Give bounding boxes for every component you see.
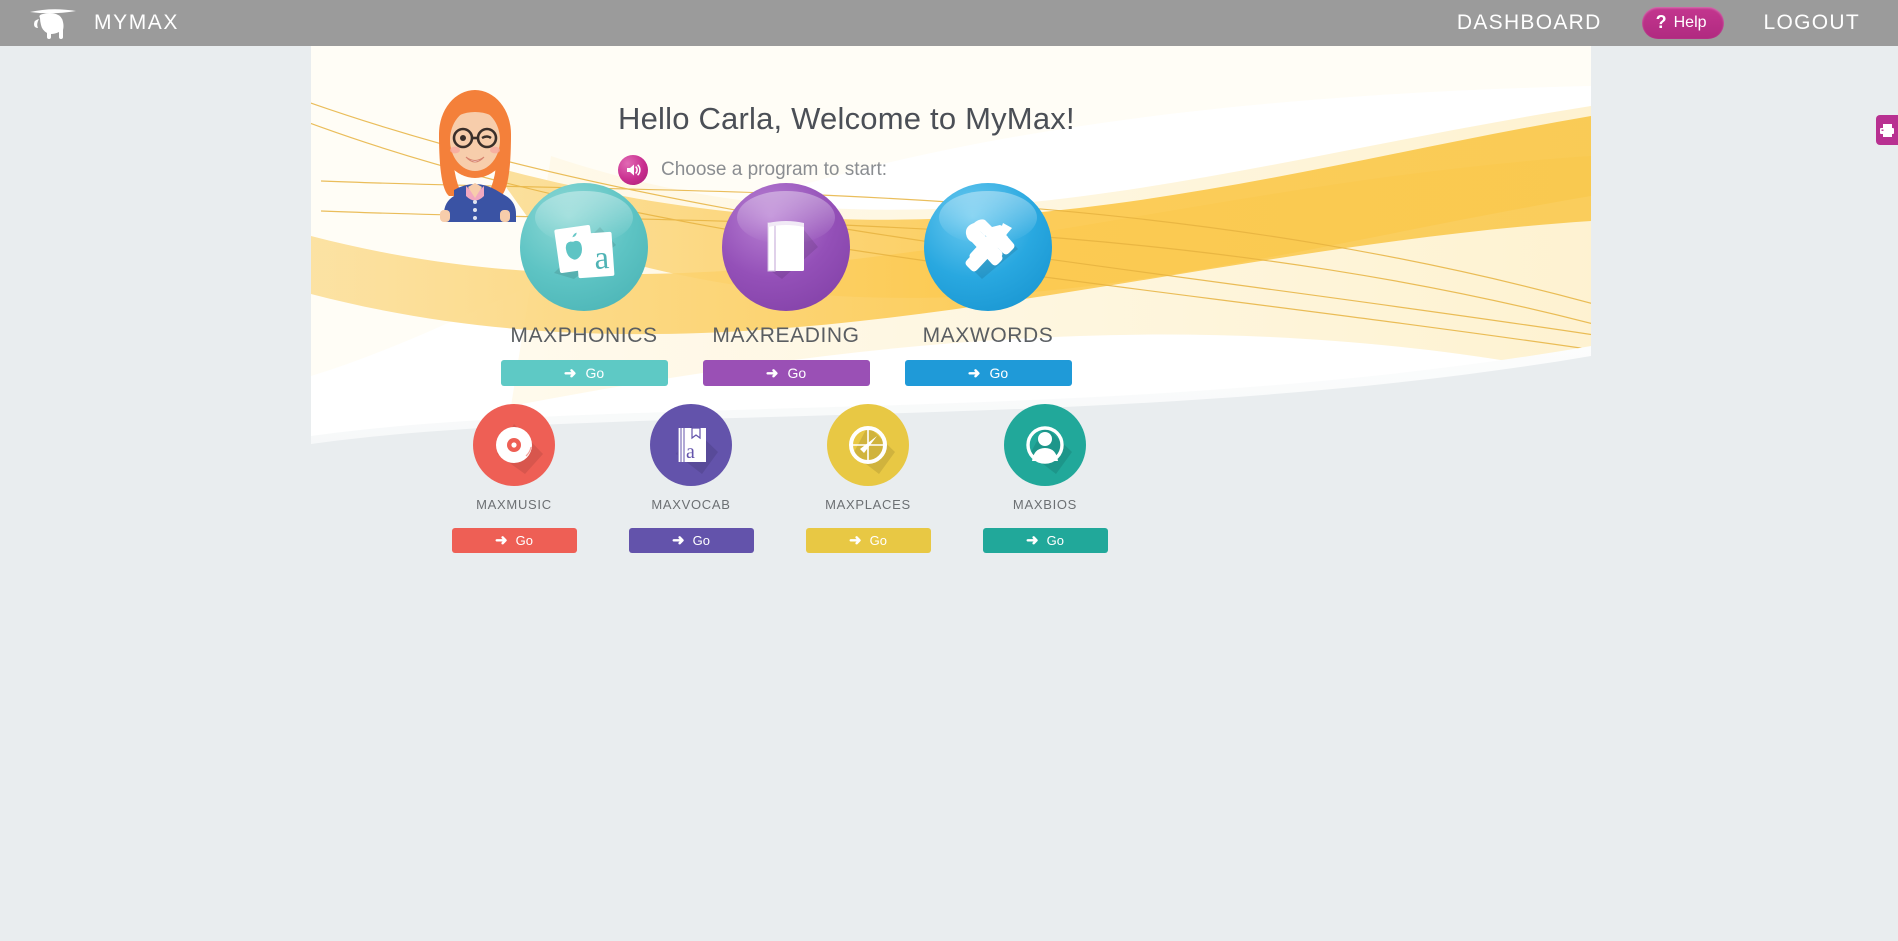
program-tile-maxreading: MAXREADING ➜ Go — [686, 183, 886, 386]
program-label: MAXVOCAB — [603, 497, 779, 512]
go-button-label: Go — [870, 533, 887, 548]
help-button[interactable]: ? Help — [1642, 7, 1724, 39]
go-button-maxvocab[interactable]: ➜ Go — [629, 528, 754, 553]
nav-dashboard-link[interactable]: DASHBOARD — [1457, 11, 1602, 35]
svg-text:a: a — [593, 240, 610, 277]
program-label: MAXPLACES — [780, 497, 956, 512]
elephant-logo-icon — [26, 5, 80, 41]
arrow-right-icon: ➜ — [1026, 533, 1039, 548]
printer-icon — [1879, 123, 1895, 138]
go-button-label: Go — [693, 533, 710, 548]
audio-speaker-icon[interactable] — [618, 155, 648, 185]
hero-subtitle: Choose a program to start: — [661, 159, 887, 181]
go-button-maxplaces[interactable]: ➜ Go — [806, 528, 931, 553]
maxplaces-icon[interactable] — [827, 404, 909, 486]
program-label: MAXMUSIC — [426, 497, 602, 512]
program-tile-maxplaces: MAXPLACES ➜ Go — [780, 404, 956, 553]
arrow-right-icon: ➜ — [849, 533, 862, 548]
go-button-maxreading[interactable]: ➜ Go — [703, 360, 870, 386]
brand-name: MYMAX — [94, 11, 179, 35]
go-button-label: Go — [585, 365, 604, 381]
arrow-right-icon: ➜ — [672, 533, 685, 548]
maxwords-icon[interactable] — [924, 183, 1052, 311]
program-label: MAXPHONICS — [484, 324, 684, 348]
go-button-maxbios[interactable]: ➜ Go — [983, 528, 1108, 553]
print-tab-button[interactable] — [1876, 115, 1898, 145]
maxreading-icon[interactable] — [722, 183, 850, 311]
program-tile-maxbios: MAXBIOS ➜ Go — [957, 404, 1133, 553]
nav-logout-link[interactable]: LOGOUT — [1764, 11, 1860, 35]
maxmusic-icon[interactable] — [473, 404, 555, 486]
arrow-right-icon: ➜ — [564, 366, 577, 381]
go-button-label: Go — [787, 365, 806, 381]
maxphonics-icon[interactable]: a — [520, 183, 648, 311]
hero-text-block: Hello Carla, Welcome to MyMax! Choose a … — [618, 101, 1075, 185]
program-tile-maxvocab: a MAXVOCAB ➜ Go — [603, 404, 779, 553]
go-button-maxphonics[interactable]: ➜ Go — [501, 360, 668, 386]
help-button-label: Help — [1674, 14, 1707, 32]
go-button-maxwords[interactable]: ➜ Go — [905, 360, 1072, 386]
program-tile-maxphonics: a MAXPHONICS ➜ Go — [484, 183, 684, 386]
program-tile-maxwords: MAXWORDS ➜ Go — [888, 183, 1088, 386]
page-title: Hello Carla, Welcome to MyMax! — [618, 101, 1075, 137]
maxvocab-icon[interactable]: a — [650, 404, 732, 486]
go-button-label: Go — [1047, 533, 1064, 548]
question-mark-icon: ? — [1656, 12, 1667, 33]
program-label: MAXBIOS — [957, 497, 1133, 512]
brand[interactable]: MYMAX — [26, 5, 179, 41]
arrow-right-icon: ➜ — [766, 366, 779, 381]
program-tile-maxmusic: MAXMUSIC ➜ Go — [426, 404, 602, 553]
arrow-right-icon: ➜ — [495, 533, 508, 548]
svg-text:a: a — [686, 441, 695, 463]
maxbios-icon[interactable] — [1004, 404, 1086, 486]
go-button-label: Go — [989, 365, 1008, 381]
go-button-maxmusic[interactable]: ➜ Go — [452, 528, 577, 553]
go-button-label: Go — [516, 533, 533, 548]
program-label: MAXREADING — [686, 324, 886, 348]
main-content-panel: Hello Carla, Welcome to MyMax! Choose a … — [311, 46, 1591, 680]
program-label: MAXWORDS — [888, 324, 1088, 348]
top-navigation-bar: MYMAX DASHBOARD ? Help LOGOUT — [0, 0, 1898, 46]
arrow-right-icon: ➜ — [968, 366, 981, 381]
